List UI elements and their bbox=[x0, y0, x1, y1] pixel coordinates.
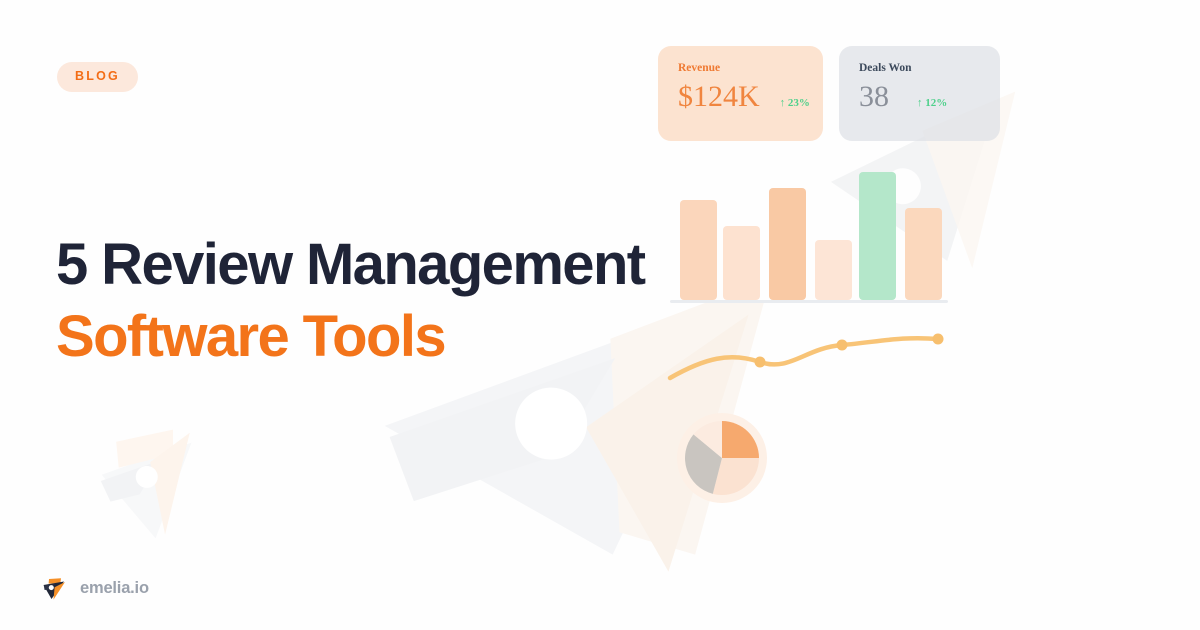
page-title-line-1: 5 Review Management bbox=[56, 236, 644, 294]
background-watermark-logo-small bbox=[88, 412, 288, 572]
paper-plane-logo-icon bbox=[42, 575, 69, 602]
kpi-card-deals-won-delta: ↑ 12% bbox=[917, 97, 947, 109]
bar-chart-bar bbox=[769, 188, 806, 300]
kpi-card-revenue-row: $124K ↑ 23% bbox=[678, 82, 803, 112]
bar-chart-bar bbox=[680, 200, 717, 300]
kpi-card-deals-won-value: 38 bbox=[859, 82, 889, 112]
bar-chart-bar bbox=[723, 226, 760, 300]
footer-brand-name: emelia.io bbox=[80, 579, 149, 598]
page-title-line-2: Software Tools bbox=[56, 308, 644, 366]
poster-canvas: BLOG 5 Review Management Software Tools … bbox=[0, 0, 1200, 630]
line-chart bbox=[660, 318, 960, 398]
kpi-card-deals-won-row: 38 ↑ 12% bbox=[859, 82, 980, 112]
kpi-card-deals-won: Deals Won 38 ↑ 12% bbox=[839, 46, 1000, 141]
kpi-card-revenue-delta: ↑ 23% bbox=[780, 97, 810, 109]
kpi-card-deals-won-label: Deals Won bbox=[859, 63, 980, 75]
bar-chart bbox=[660, 150, 960, 306]
kpi-card-revenue-label: Revenue bbox=[678, 63, 803, 75]
bar-chart-bar bbox=[859, 172, 896, 300]
pie-chart bbox=[676, 412, 768, 504]
bar-chart-bar bbox=[905, 208, 942, 300]
bar-chart-baseline bbox=[670, 300, 948, 303]
page-title: 5 Review Management Software Tools bbox=[56, 236, 644, 366]
footer-brand[interactable]: emelia.io bbox=[42, 575, 149, 602]
kpi-card-revenue: Revenue $124K ↑ 23% bbox=[658, 46, 823, 141]
kpi-card-revenue-value: $124K bbox=[678, 82, 760, 112]
bar-chart-bar bbox=[815, 240, 852, 300]
blog-badge[interactable]: BLOG bbox=[57, 62, 138, 92]
